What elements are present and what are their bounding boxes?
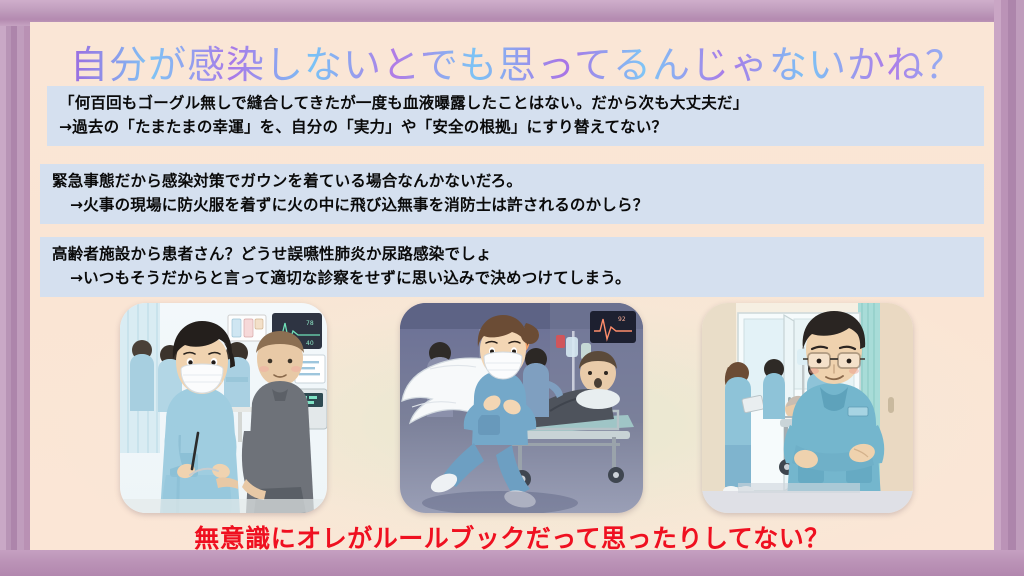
quote-text-3: 高齢者施設から患者さん？どうせ誤嚥性肺炎か尿路感染でしょ — [52, 243, 974, 267]
slide-frame-right — [994, 0, 1024, 576]
slide: 自分が感染しないとでも思ってるんじゃないかね？ 「何百回もゴーグル無しで縫合して… — [0, 0, 1024, 576]
illustration-row: 78 40 — [30, 303, 994, 515]
quote-box-2: 緊急事態だから感染対策でガウンを着ている場合なんかないだろ。 →火事の現場に防火… — [40, 164, 984, 224]
quote-response-2: →火事の現場に防火服を着ずに火の中に飛び込無事を消防士は許されるのかしら？ — [52, 194, 974, 218]
quote-box-3: 高齢者施設から患者さん？どうせ誤嚥性肺炎か尿路感染でしょ →いつもそうだからと言… — [40, 237, 984, 297]
confident-doctor-illustration — [702, 303, 913, 513]
svg-text:78: 78 — [306, 320, 314, 327]
slide-title: 自分が感染しないとでも思ってるんじゃないかね？ — [70, 34, 970, 89]
quote-box-1: 「何百回もゴーグル無しで縫合してきたが一度も血液曝露したことはない。だから次も大… — [47, 86, 984, 146]
quote-text-1: 「何百回もゴーグル無しで縫合してきたが一度も血液曝露したことはない。だから次も大… — [59, 92, 974, 116]
svg-text:40: 40 — [306, 340, 314, 347]
slide-canvas: 自分が感染しないとでも思ってるんじゃないかね？ 「何百回もゴーグル無しで縫合して… — [30, 22, 994, 550]
quote-response-1: →過去の「たまたまの幸運」を、自分の「実力」や「安全の根拠」にすり替えてない？ — [59, 116, 974, 140]
quote-text-2: 緊急事態だから感染対策でガウンを着ている場合なんかないだろ。 — [52, 170, 974, 194]
nurse-running-with-gown-illustration: 92 — [400, 303, 643, 513]
bottom-caption: 無意識にオレがルールブックだって思ったりしてない？ — [30, 519, 994, 555]
svg-text:92: 92 — [618, 316, 626, 323]
suture-without-goggles-illustration: 78 40 — [120, 303, 327, 513]
quote-response-3: →いつもそうだからと言って適切な診察をせずに思い込みで決めつけてしまう。 — [52, 267, 974, 291]
